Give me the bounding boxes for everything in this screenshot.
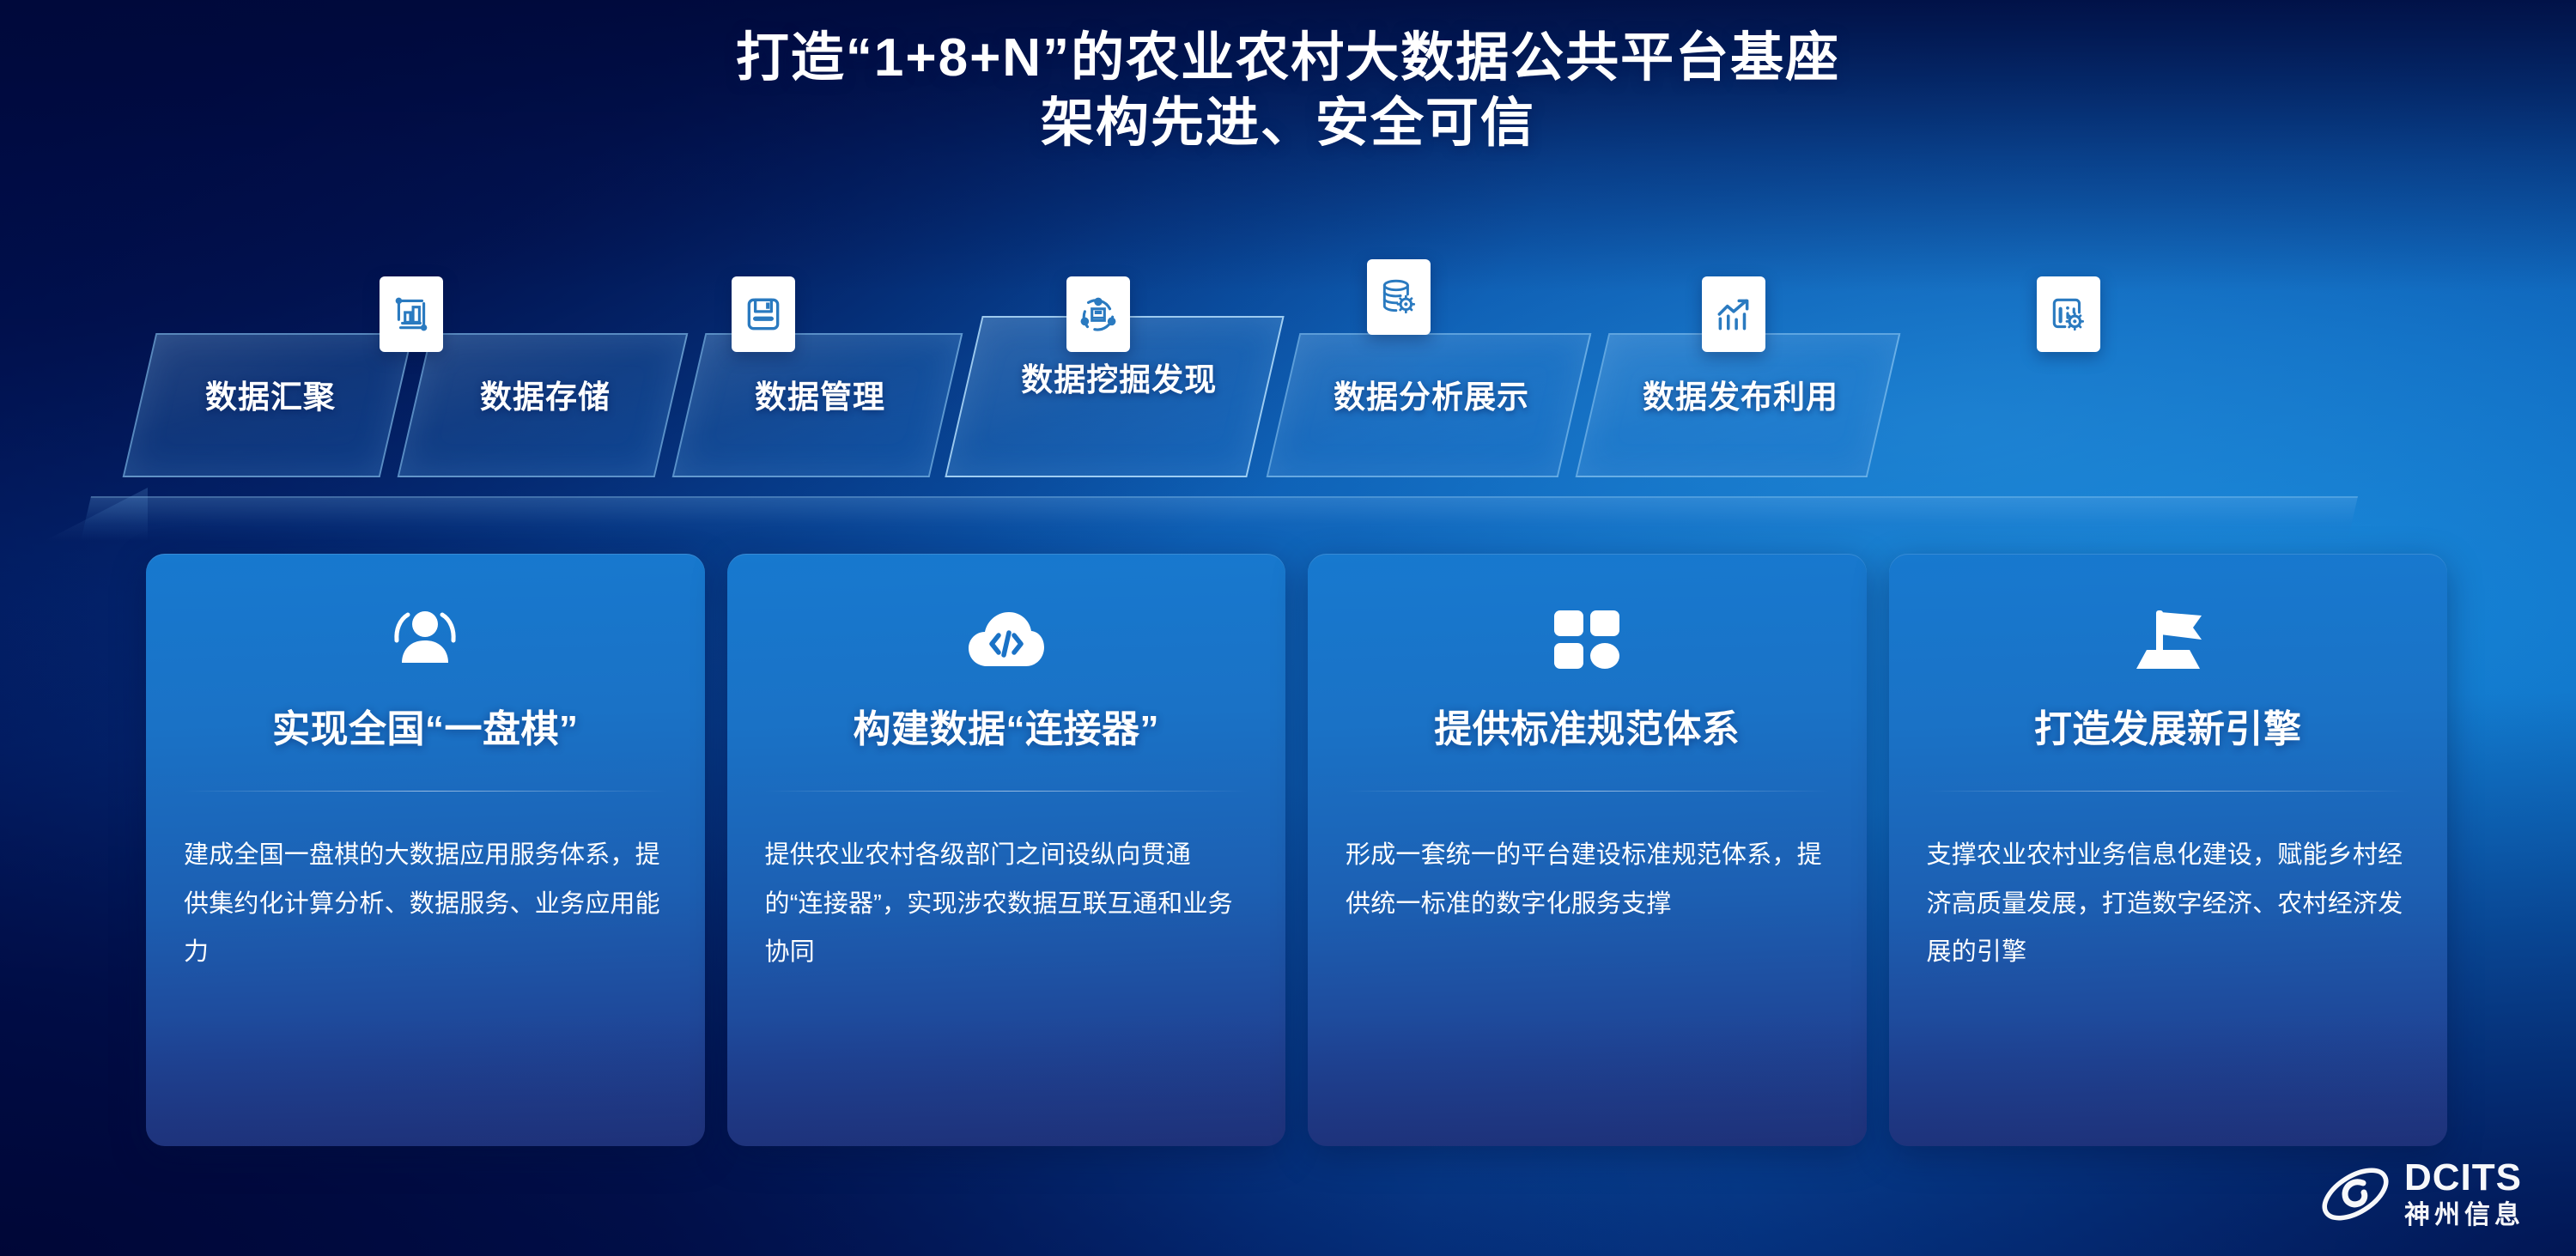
feature-card-standards[interactable]: 提供标准规范体系 形成一套统一的平台建设标准规范体系，提供统一标准的数字化服务支… bbox=[1308, 554, 1867, 1146]
data-collect-icon bbox=[390, 293, 433, 336]
grid-blocks-icon bbox=[1552, 600, 1621, 679]
feature-card-divider bbox=[184, 791, 667, 792]
feature-card-list: 实现全国“一盘棋” 建成全国一盘棋的大数据应用服务体系，提供集约化计算分析、数据… bbox=[146, 554, 2447, 1146]
title-line-2: 架构先进、安全可信 bbox=[0, 91, 2576, 156]
cloud-code-icon bbox=[967, 600, 1046, 679]
feature-card-title: 构建数据“连接器” bbox=[854, 698, 1160, 753]
feature-card-title: 打造发展新引擎 bbox=[2034, 698, 2302, 753]
dcits-swirl-icon bbox=[2318, 1162, 2392, 1226]
data-analysis-icon bbox=[1712, 293, 1755, 336]
company-logo: DCITS 神州信息 bbox=[2318, 1159, 2524, 1229]
data-collect-icon-badge bbox=[380, 276, 443, 352]
data-storage-icon-badge bbox=[732, 276, 795, 352]
feature-card-data-connector[interactable]: 构建数据“连接器” 提供农业农村各级部门之间设纵向贯通的“连接器”，实现涉农数据… bbox=[727, 554, 1286, 1146]
pipeline-stage-label: 数据挖掘发现 bbox=[969, 354, 1268, 400]
logo-text: DCITS 神州信息 bbox=[2404, 1159, 2524, 1229]
platform-base-slab bbox=[81, 496, 2358, 541]
pipeline-stage-label: 数据管理 bbox=[693, 371, 947, 417]
pipeline-stage-label: 数据分析展示 bbox=[1287, 371, 1576, 417]
data-mining-icon-badge bbox=[1367, 259, 1431, 335]
feature-card-national-chess[interactable]: 实现全国“一盘棋” 建成全国一盘棋的大数据应用服务体系，提供集约化计算分析、数据… bbox=[146, 554, 705, 1146]
feature-card-title: 实现全国“一盘棋” bbox=[272, 698, 579, 753]
feature-card-divider bbox=[1346, 791, 1829, 792]
data-management-icon bbox=[1077, 293, 1120, 336]
feature-card-divider bbox=[1927, 791, 2410, 792]
pipeline-stage-data-analysis[interactable]: 数据分析展示 bbox=[1267, 333, 1592, 477]
page-title: 打造“1+8+N”的农业农村大数据公共平台基座 架构先进、安全可信 bbox=[0, 26, 2576, 155]
pipeline-stage-data-publish[interactable]: 数据发布利用 bbox=[1576, 333, 1901, 477]
logo-text-en: DCITS bbox=[2404, 1159, 2524, 1197]
pipeline-stage-label: 数据存储 bbox=[418, 371, 672, 417]
pipeline-stage-label: 数据发布利用 bbox=[1596, 371, 1885, 417]
pipeline-stage-data-storage[interactable]: 数据存储 bbox=[398, 333, 689, 477]
pipeline-stage-label: 数据汇聚 bbox=[143, 371, 398, 417]
feature-card-body: 支撑农业农村业务信息化建设，赋能乡村经济高质量发展，打造数字经济、农村经济发展的… bbox=[1927, 831, 2410, 977]
feature-card-title: 提供标准规范体系 bbox=[1434, 698, 1740, 753]
feature-card-body: 形成一套统一的平台建设标准规范体系，提供统一标准的数字化服务支撑 bbox=[1346, 831, 1829, 928]
data-publish-icon bbox=[2047, 293, 2090, 336]
data-management-icon-badge bbox=[1066, 276, 1130, 352]
title-line-1: 打造“1+8+N”的农业农村大数据公共平台基座 bbox=[0, 26, 2576, 91]
users-icon bbox=[389, 600, 461, 679]
feature-card-body: 建成全国一盘棋的大数据应用服务体系，提供集约化计算分析、数据服务、业务应用能力 bbox=[184, 831, 667, 977]
data-analysis-icon-badge bbox=[1702, 276, 1765, 352]
pipeline-stage-data-management[interactable]: 数据管理 bbox=[672, 333, 963, 477]
feature-card-body: 提供农业农村各级部门之间设纵向贯通的“连接器”，实现涉农数据互联互通和业务协同 bbox=[765, 831, 1249, 977]
feature-card-growth-engine[interactable]: 打造发展新引擎 支撑农业农村业务信息化建设，赋能乡村经济高质量发展，打造数字经济… bbox=[1889, 554, 2448, 1146]
pipeline-stage-data-collect[interactable]: 数据汇聚 bbox=[123, 333, 414, 477]
data-mining-icon bbox=[1377, 276, 1420, 319]
flag-icon bbox=[2129, 600, 2207, 679]
data-publish-icon-badge bbox=[2037, 276, 2100, 352]
logo-text-cn: 神州信息 bbox=[2404, 1203, 2524, 1229]
pipeline-platform: 数据汇聚 数据存储 数据管理 数据挖掘发现 数据分析展示 数据发布利用 bbox=[86, 283, 2482, 541]
data-storage-icon bbox=[742, 293, 785, 336]
feature-card-divider bbox=[765, 791, 1249, 792]
